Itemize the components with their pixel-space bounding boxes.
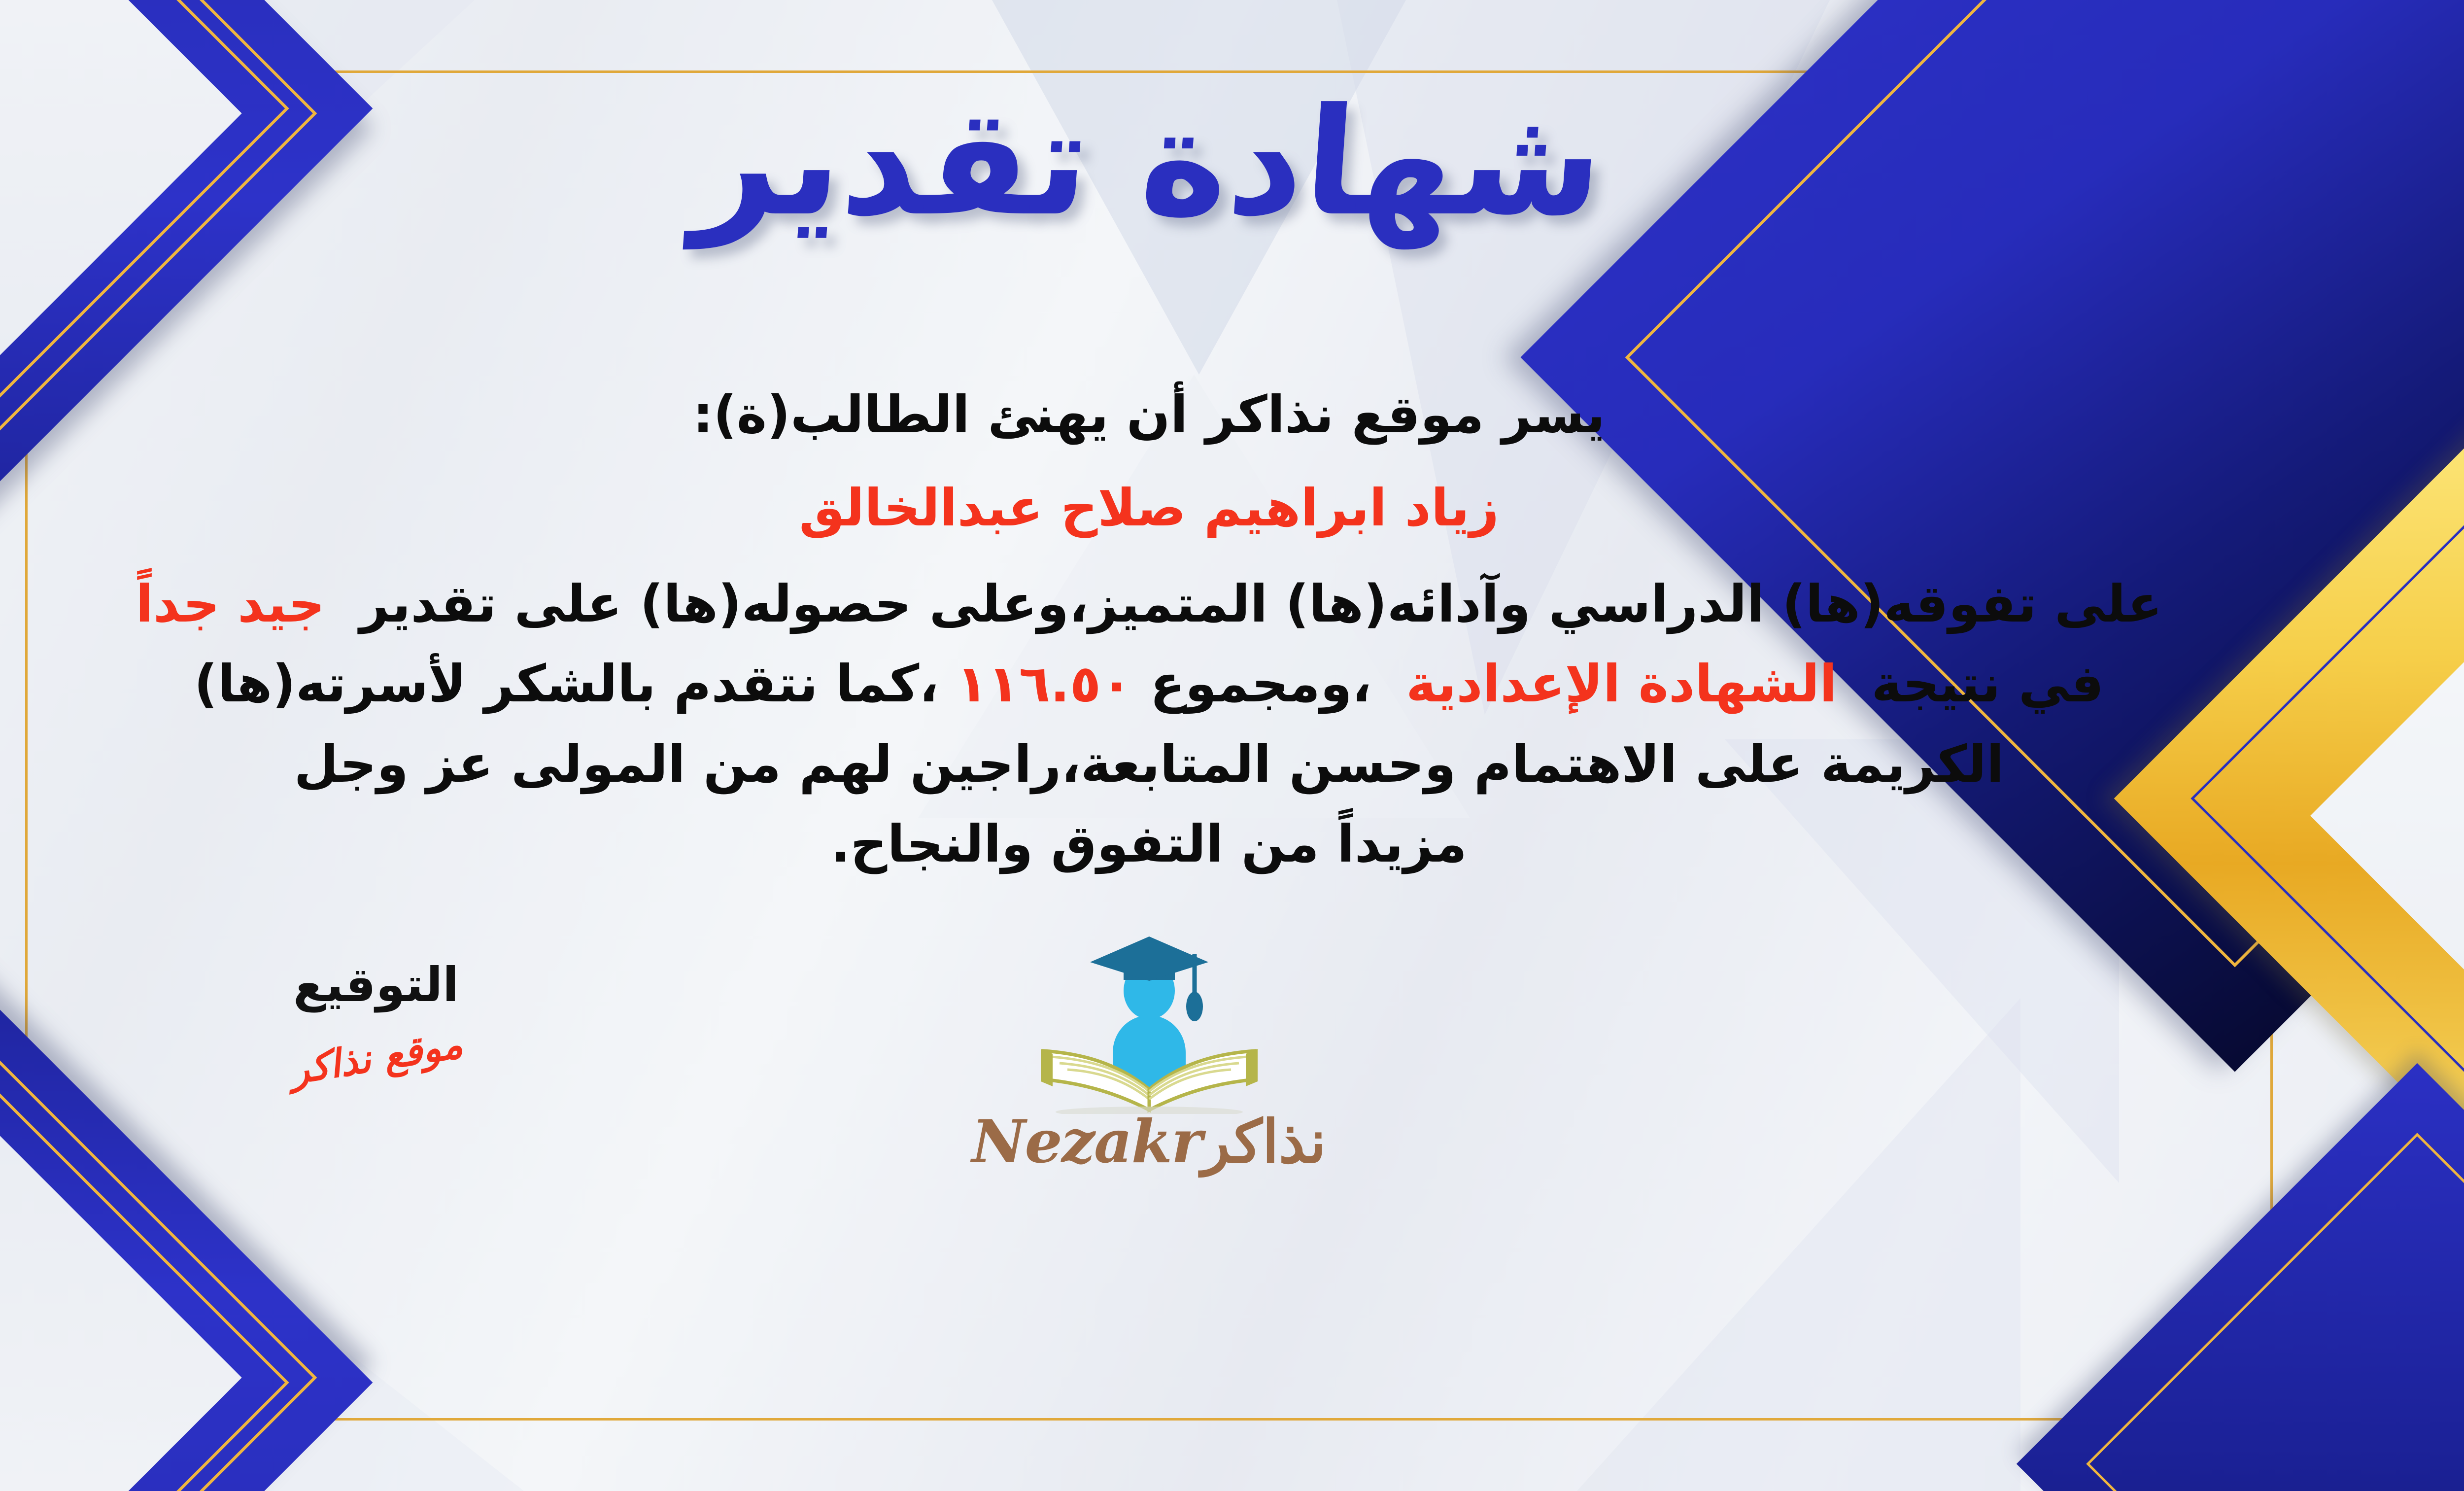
result-prefix: في نتيجة	[1872, 654, 2104, 714]
thanks-prefix: ،كما نتقدم بالشكر لأسرته(ها)	[194, 654, 939, 714]
right-gold-chevron-notch	[2310, 526, 2464, 1105]
brand-logo: نذاكرNezakr	[962, 917, 1336, 1177]
graduate-book-logo-icon	[1011, 917, 1287, 1114]
total-score: ١١٦.٥٠	[957, 654, 1132, 714]
signature-block: التوقيع موقع نذاكر	[204, 961, 548, 1080]
achievement-line: على تفوقه(ها) الدراسي وآدائه(ها) المتميز…	[41, 564, 2257, 644]
closing-line: مزيداً من التفوق والنجاح.	[41, 804, 2257, 884]
certificate-body: يسر موقع نذاكر أن يهنئ الطالب(ة): زياد ا…	[41, 375, 2257, 884]
result-line: في نتيجةالشهادة الإعدادية،ومجموع١١٦.٥٠،ك…	[41, 644, 2257, 724]
total-prefix: ،ومجموع	[1150, 654, 1371, 714]
brand-wordmark: نذاكرNezakr	[962, 1107, 1336, 1177]
greeting-line: يسر موقع نذاكر أن يهنئ الطالب(ة):	[41, 375, 2257, 454]
brand-latin: Nezakr	[972, 1107, 1201, 1177]
handwritten-signature: موقع نذاكر	[287, 1022, 465, 1093]
page-title: شهادة تقدير	[36, 89, 2262, 237]
grade-value: جيد جداً	[136, 574, 325, 634]
student-name: زياد ابراهيم صلاح عبدالخالق	[41, 469, 2257, 546]
achievement-text: على تفوقه(ها) الدراسي وآدائه(ها) المتميز…	[360, 574, 2162, 634]
family-thanks-line: الكريمة على الاهتمام وحسن المتابعة،راجين…	[41, 724, 2257, 804]
brand-arabic: نذاكر	[1201, 1107, 1326, 1177]
signature-label: التوقيع	[204, 961, 548, 1008]
certificate-content: شهادة تقدير يسر موقع نذاكر أن يهنئ الطال…	[41, 79, 2257, 1412]
certificate-canvas: شهادة تقدير يسر موقع نذاكر أن يهنئ الطال…	[0, 0, 2464, 1491]
certificate-name: الشهادة الإعدادية	[1406, 654, 1837, 714]
